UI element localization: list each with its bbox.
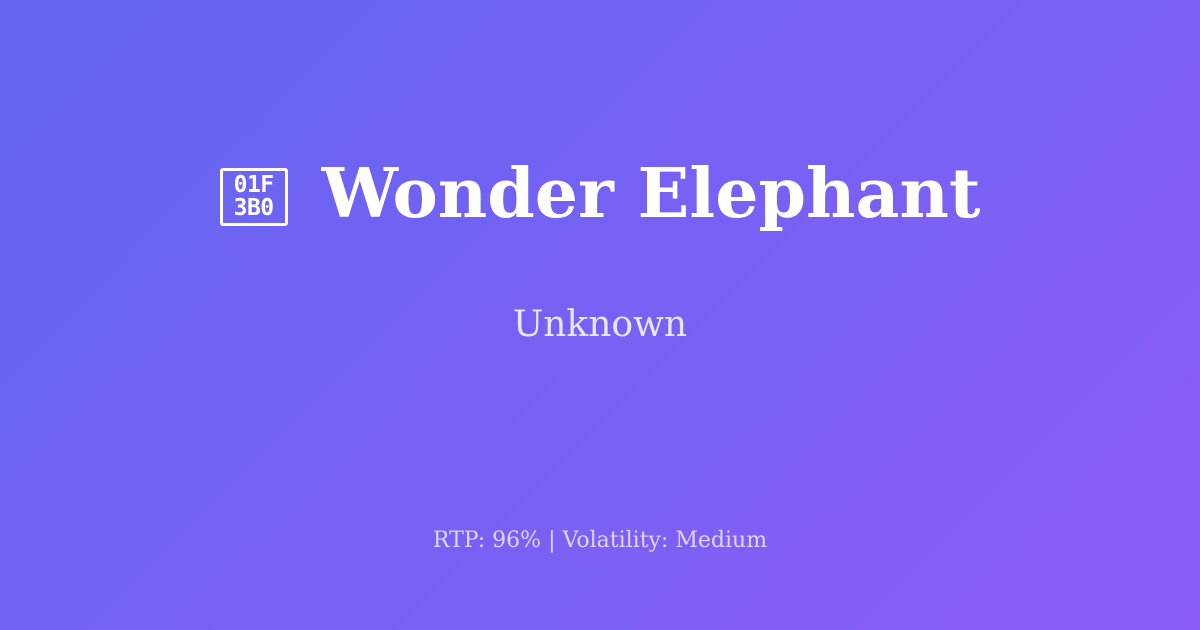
hero-block: 01F 3B0 Wonder Elephant Unknown: [0, 0, 1200, 505]
page-title: Wonder Elephant: [322, 159, 981, 230]
tofu-hex-row-bottom: 3B0: [234, 197, 274, 220]
slot-machine-icon: 01F 3B0: [220, 168, 288, 226]
game-og-card: 01F 3B0 Wonder Elephant Unknown RTP: 96%…: [0, 0, 1200, 630]
game-stats-line: RTP: 96% | Volatility: Medium: [433, 528, 767, 553]
tofu-hex-row-top: 01F: [234, 174, 274, 197]
game-provider-subtitle: Unknown: [513, 303, 687, 346]
title-row: 01F 3B0 Wonder Elephant: [40, 159, 1160, 230]
meta-footer: RTP: 96% | Volatility: Medium: [0, 528, 1200, 554]
